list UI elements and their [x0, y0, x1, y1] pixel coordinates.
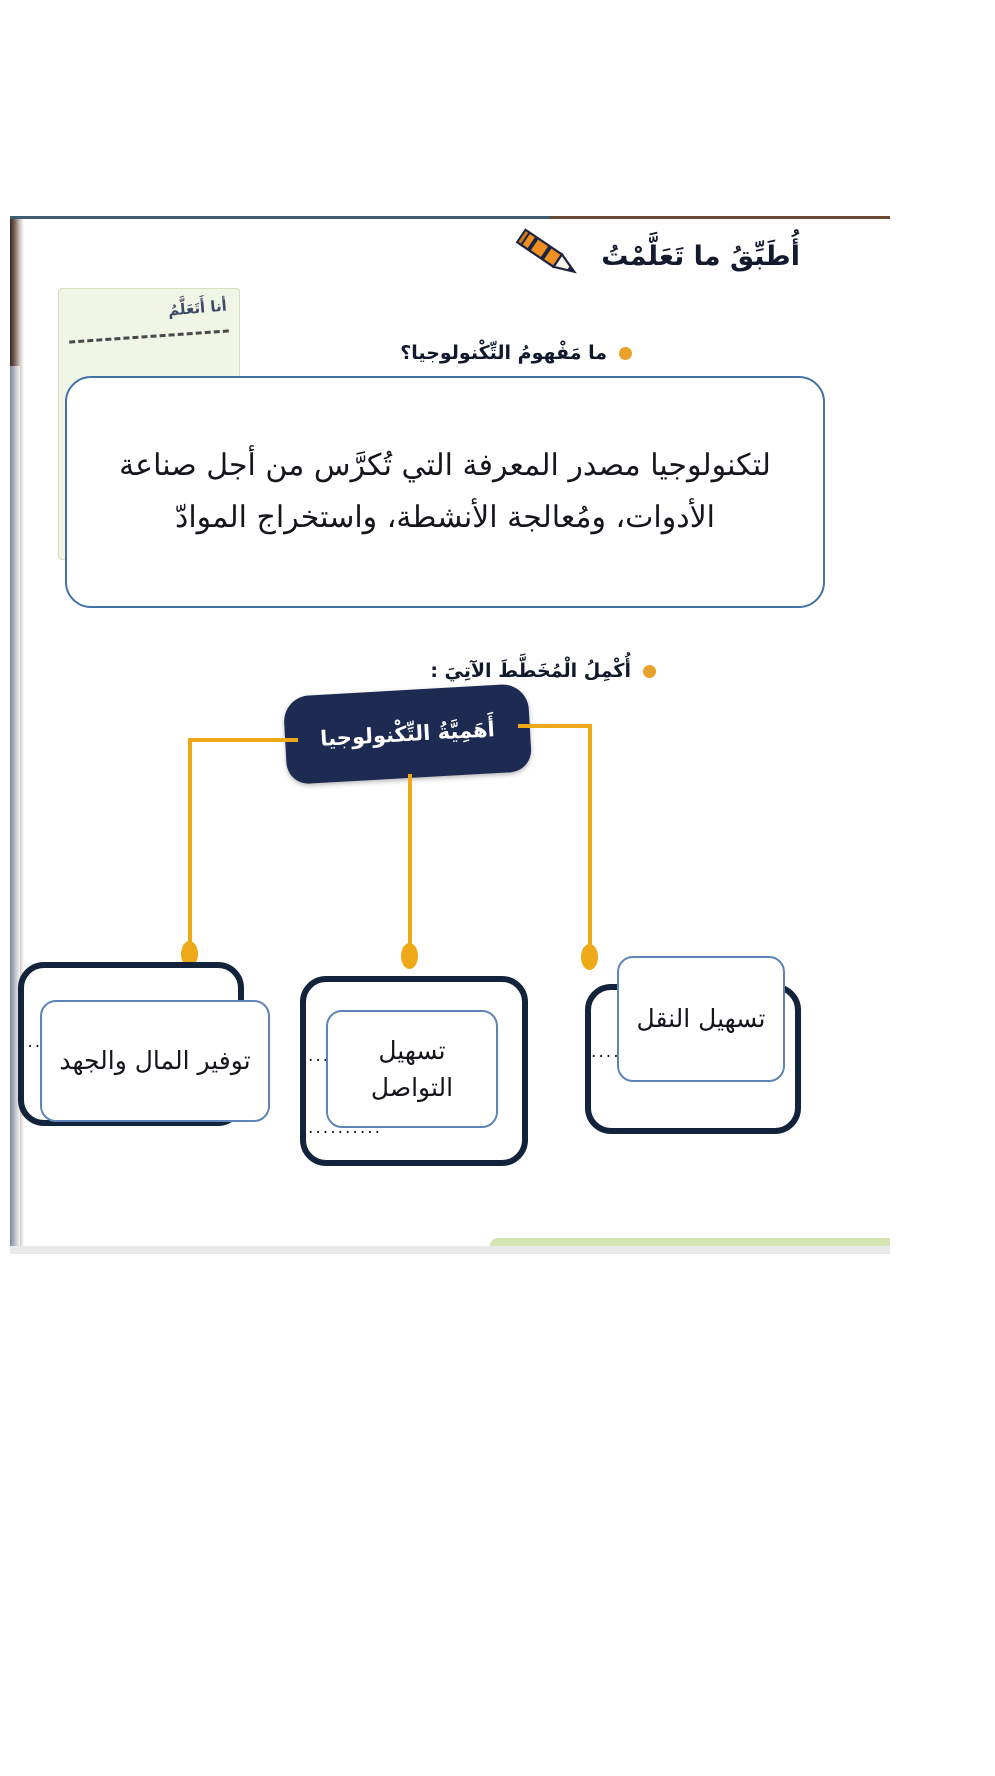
- answer-box-concept[interactable]: لتكنولوجيا مصدر المعرفة التي تُكرَّس من …: [65, 376, 825, 608]
- connector-vertical-left: [188, 738, 192, 950]
- question-row-1: ما مَفْهومُ التِّكْنولوجيا؟: [400, 342, 632, 364]
- concept-map-root-label: أَهَمِيَّةُ التِّكْنولوجيا: [320, 717, 496, 751]
- question-row-2: أُكْمِلُ الْمُخَطَّطَ الآتِيَ :: [430, 660, 656, 682]
- i-learn-sticker-dashed-rule: [69, 329, 229, 343]
- branch-left-answer-card[interactable]: توفير المال والجهد: [40, 1000, 270, 1122]
- concept-map-branch-center[interactable]: .......... .......... تسهيل التواصل: [300, 966, 532, 1156]
- question-2-text: أُكْمِلُ الْمُخَطَّطَ الآتِيَ :: [430, 660, 631, 682]
- i-learn-sticker-title: أنا أَتَعَلَّمُ: [168, 296, 228, 319]
- connector-vertical-right: [588, 724, 592, 952]
- bullet-dot-icon: [643, 665, 656, 678]
- concept-map-branch-right[interactable]: .......... تسهيل النقل: [585, 956, 817, 1146]
- page-top-rule-brown: [550, 216, 890, 219]
- branch-right-answer-text: تسهيل النقل: [629, 1000, 774, 1038]
- worksheet-page: أنا أَتَعَلَّمُ التِّكْنولوجيا والعلم أه…: [0, 0, 995, 1776]
- branch-left-answer-text: توفير المال والجهد: [51, 1042, 258, 1080]
- connector-vertical-center: [408, 774, 412, 952]
- concept-map-branch-left[interactable]: .......... توفير المال والجهد: [18, 958, 250, 1148]
- concept-map: أَهَمِيَّةُ التِّكْنولوجيا .......... تس…: [10, 686, 890, 1254]
- answer-text-concept: لتكنولوجيا مصدر المعرفة التي تُكرَّس من …: [67, 440, 823, 545]
- page-title: أُطَبِّقُ ما تَعَلَّمْتُ: [513, 228, 800, 284]
- page-bottom-shade: [10, 1246, 890, 1254]
- page-title-label: أُطَبِّقُ ما تَعَلَّمْتُ: [601, 241, 800, 272]
- scanned-sheet: أنا أَتَعَلَّمُ التِّكْنولوجيا والعلم أه…: [10, 216, 890, 1254]
- connector-horizontal-right: [518, 724, 590, 728]
- pencil-icon: [513, 228, 587, 284]
- branch-center-answer-card[interactable]: تسهيل التواصل: [326, 1010, 498, 1128]
- connector-horizontal-left: [188, 738, 298, 742]
- question-1-text: ما مَفْهومُ التِّكْنولوجيا؟: [400, 342, 607, 364]
- bullet-dot-icon: [619, 347, 632, 360]
- concept-map-root-node[interactable]: أَهَمِيَّةُ التِّكْنولوجيا: [283, 683, 533, 785]
- branch-center-answer-text: تسهيل التواصل: [328, 1032, 496, 1107]
- branch-right-answer-card[interactable]: تسهيل النقل: [617, 956, 785, 1082]
